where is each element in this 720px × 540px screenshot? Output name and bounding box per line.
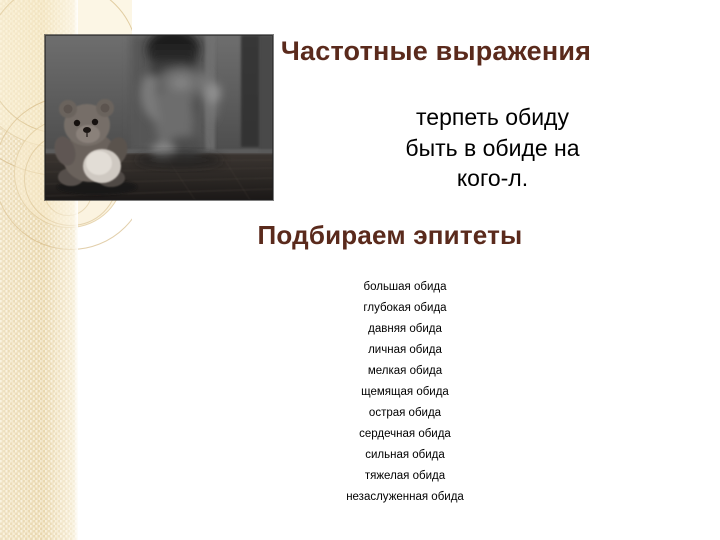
list-item: мелкая обида	[280, 361, 530, 382]
list-item: давняя обида	[280, 319, 530, 340]
frequent-phrases-list: терпеть обиду быть в обиде на кого-л.	[270, 102, 715, 194]
list-item: сильная обида	[280, 445, 530, 466]
list-item: острая обида	[280, 403, 530, 424]
page-title-frequent-expressions: Частотные выражения	[160, 36, 712, 66]
list-item: сердечная обида	[280, 424, 530, 445]
list-item: тяжелая обида	[280, 466, 530, 487]
list-item: личная обида	[280, 340, 530, 361]
phrase-item: быть в обиде на	[270, 133, 715, 164]
list-item: большая обида	[280, 277, 530, 298]
section-title-pick-epithets: Подбираем эпитеты	[110, 220, 670, 251]
list-item: щемящая обида	[280, 382, 530, 403]
epithets-list: большая обида глубокая обида давняя обид…	[280, 277, 530, 508]
slide-canvas: Частотные выражения терпеть обиду быть в…	[0, 0, 720, 540]
list-item: глубокая обида	[280, 298, 530, 319]
list-item: незаслуженная обида	[280, 487, 530, 508]
phrase-item: терпеть обиду	[270, 102, 715, 133]
phrase-item: кого-л.	[270, 163, 715, 194]
